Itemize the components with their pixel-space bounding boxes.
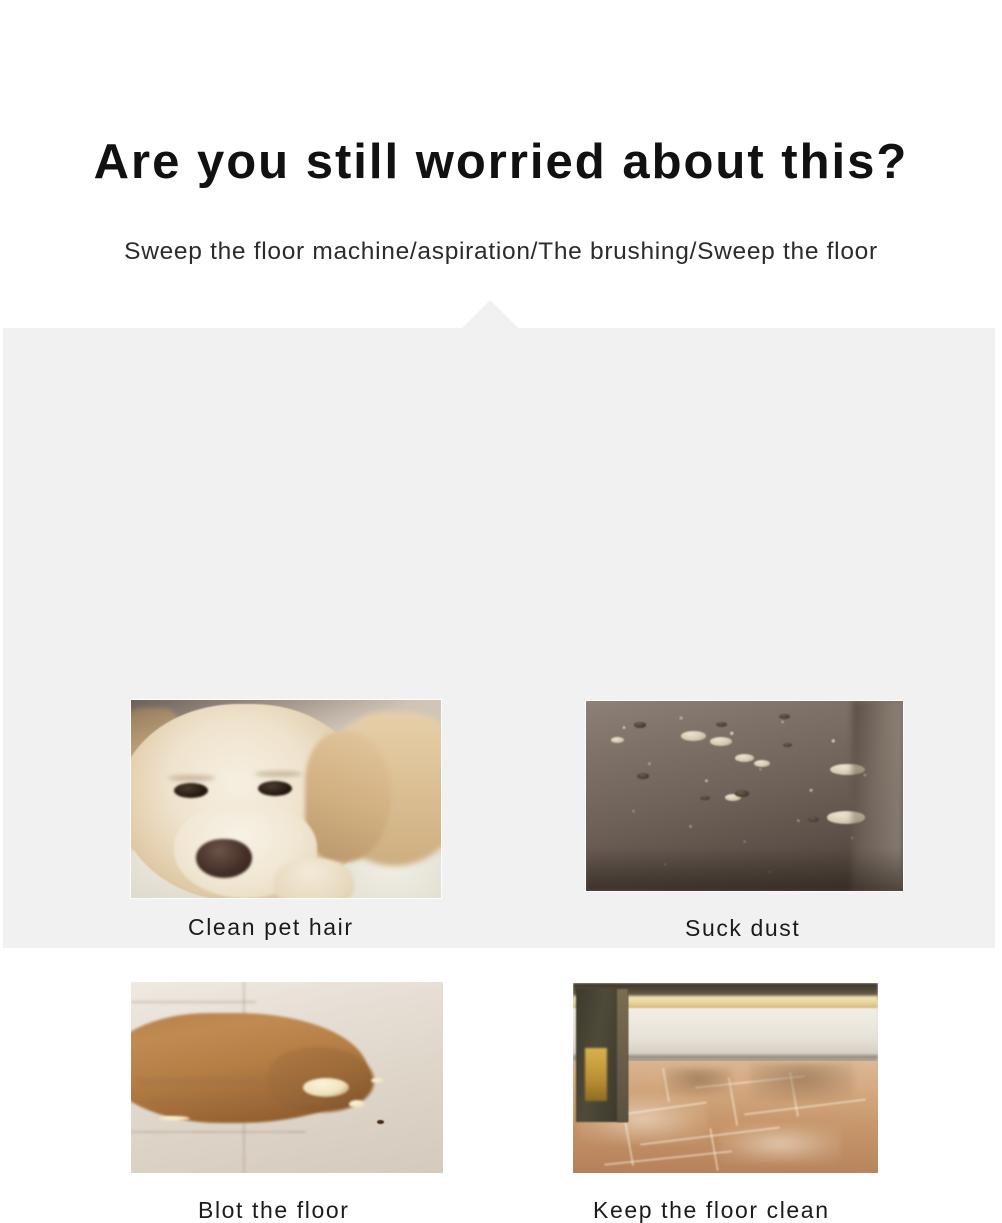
feature-card-pet-hair[interactable]: Clean pet hair [131,700,441,898]
panel-notch-triangle-icon [462,300,518,328]
floor-reflection [750,1063,854,1101]
dust-dark-speck [634,722,647,728]
pet-eye-right [258,781,292,796]
caption-suck-dust: Suck dust [685,917,800,940]
spill-highlight [349,1100,365,1108]
spill-highlight [303,1078,350,1097]
dust-dark-speck [700,796,710,800]
floor-plank-line [131,1001,256,1003]
dust-speck [611,737,624,743]
dust-speck [735,754,754,762]
dust-speck [754,760,770,767]
photo-keep-floor-clean [573,983,878,1173]
spill-streak [150,1099,325,1105]
floor-reflection [665,1068,732,1095]
dust-dark-speck [716,722,727,727]
feature-card-blot-floor[interactable]: Blot the floor [131,982,443,1173]
header-section: Are you still worried about this? Sweep … [0,0,1002,328]
floor-sheen [719,1124,841,1164]
page-title: Are you still worried about this? [0,138,1002,187]
feature-card-keep-floor-clean[interactable]: Keep the floor clean [573,983,878,1173]
pet-paw [274,858,355,898]
dust-speck [681,731,706,741]
door-brass-detail [585,1048,606,1101]
caption-keep-floor-clean: Keep the floor clean [593,1199,830,1222]
photo-blot-floor [131,982,443,1173]
caption-blot-floor: Blot the floor [198,1199,350,1222]
floor-plank-line [131,1131,306,1133]
page-subtitle: Sweep the floor machine/aspiration/The b… [0,240,1002,265]
pet-nose [196,839,252,879]
caption-pet-hair: Clean pet hair [188,916,354,939]
dust-dark-speck [735,790,749,796]
spill-highlight [371,1078,383,1084]
dust-dark-speck [637,773,650,779]
photo-suck-dust [586,701,903,891]
feature-card-suck-dust[interactable]: Suck dust [586,701,903,891]
dust-dark-speck [808,817,819,822]
photo-pet-hair [131,700,441,898]
feature-panel: Clean pet hair Suck dust [3,328,995,948]
dust-bottom-shadow [586,849,903,891]
spill-droplet [377,1120,384,1124]
dust-speck [710,737,732,746]
tile-grout-line [604,1151,732,1166]
door-frame-edge [617,989,628,1122]
